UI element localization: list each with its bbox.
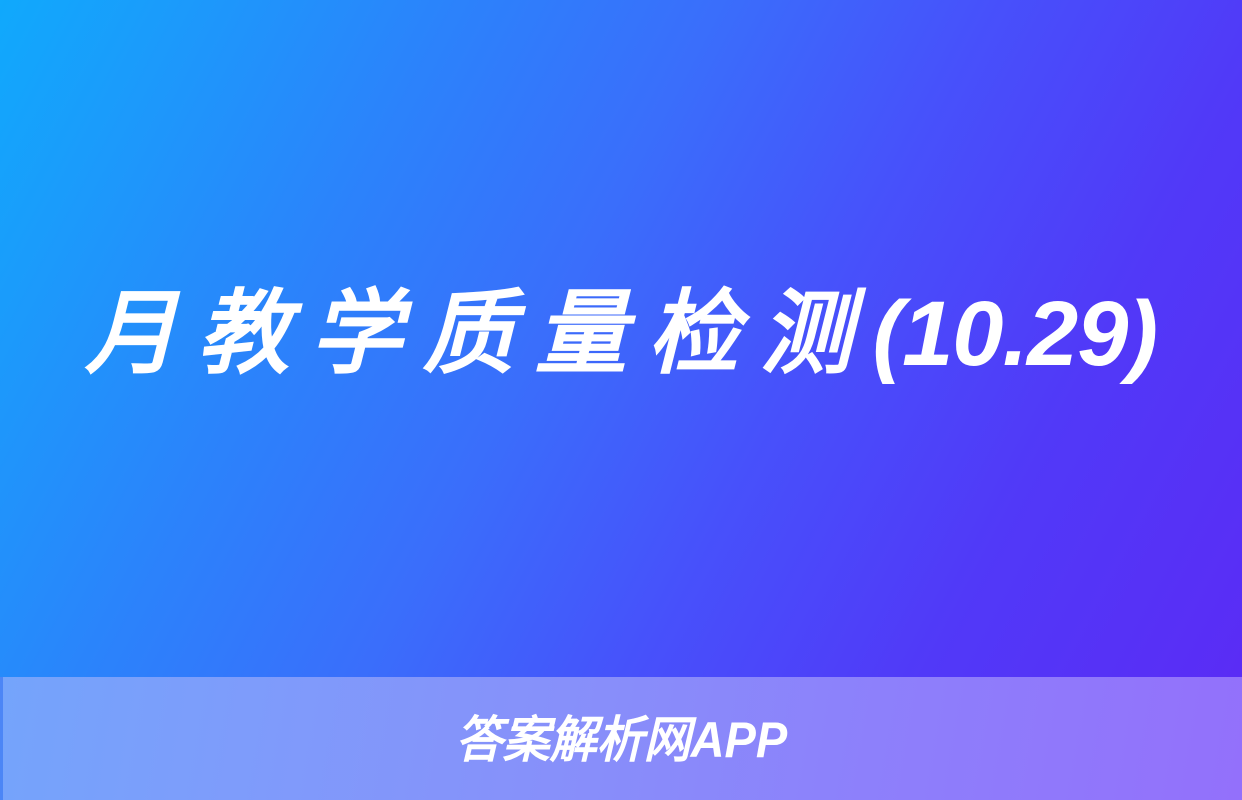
exam-cover-screen: 九师联盟·2026届高三10 月教学质量检测(10.29) 历史试题 答案解析网… (0, 0, 1242, 800)
page-title-line-2: 月教学质量检测(10.29) (85, 262, 1157, 407)
hero-gradient-banner: 九师联盟·2026届高三10 月教学质量检测(10.29) 历史试题 (0, 0, 1242, 677)
app-brand-label: 答案解析网APP (455, 715, 787, 765)
footer-brand-band: 答案解析网APP (0, 677, 1242, 800)
